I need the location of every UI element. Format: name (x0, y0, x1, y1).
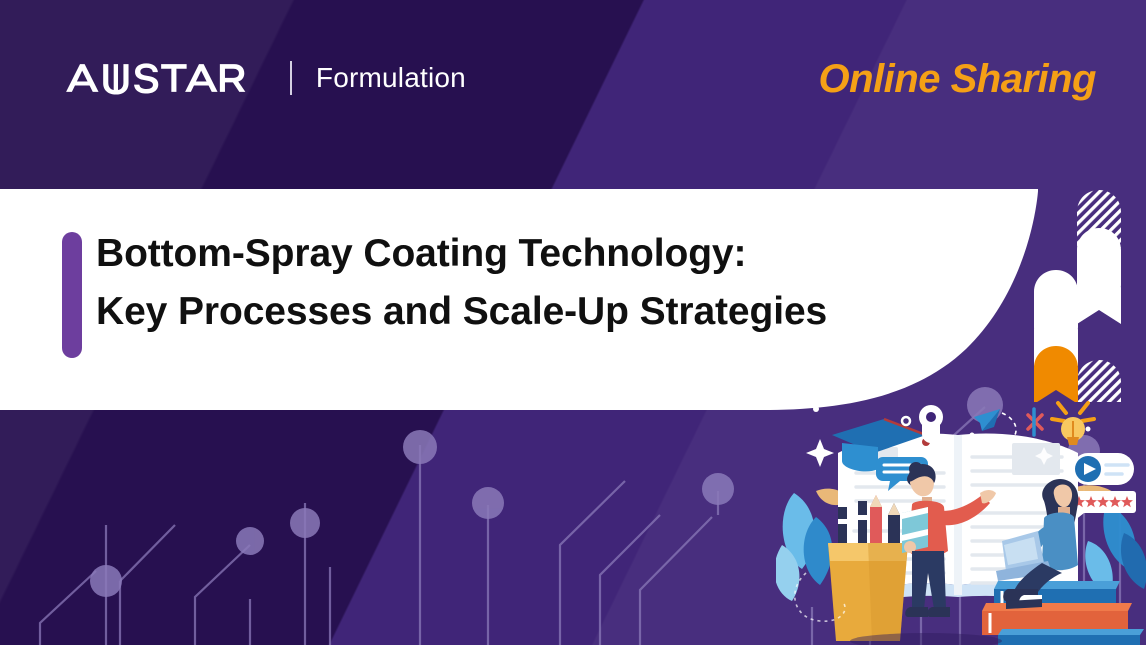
title-line-1: Bottom-Spray Coating Technology: (96, 225, 956, 283)
austar-ribbon-pattern (1034, 186, 1146, 402)
page-title: Bottom-Spray Coating Technology: Key Pro… (96, 225, 956, 341)
brand-lockup: Formulation (63, 56, 466, 100)
austar-logo-icon (63, 61, 264, 95)
brand-subtitle: Formulation (316, 62, 466, 94)
title-accent-bar (62, 232, 82, 358)
play-button-card-icon (1072, 453, 1134, 485)
title-card: Bottom-Spray Coating Technology: Key Pro… (0, 189, 1060, 411)
slide-header: Formulation Online Sharing (0, 0, 1146, 189)
slide-root: Formulation Online Sharing Bottom-Spray … (0, 0, 1146, 645)
online-learning-illustration (776, 395, 1146, 645)
brand-divider (290, 61, 292, 95)
online-sharing-badge: Online Sharing (819, 57, 1096, 102)
lightbulb-icon (1052, 403, 1094, 445)
cross-sparkle-icon (1028, 409, 1042, 435)
title-line-2: Key Processes and Scale-Up Strategies (96, 283, 956, 341)
